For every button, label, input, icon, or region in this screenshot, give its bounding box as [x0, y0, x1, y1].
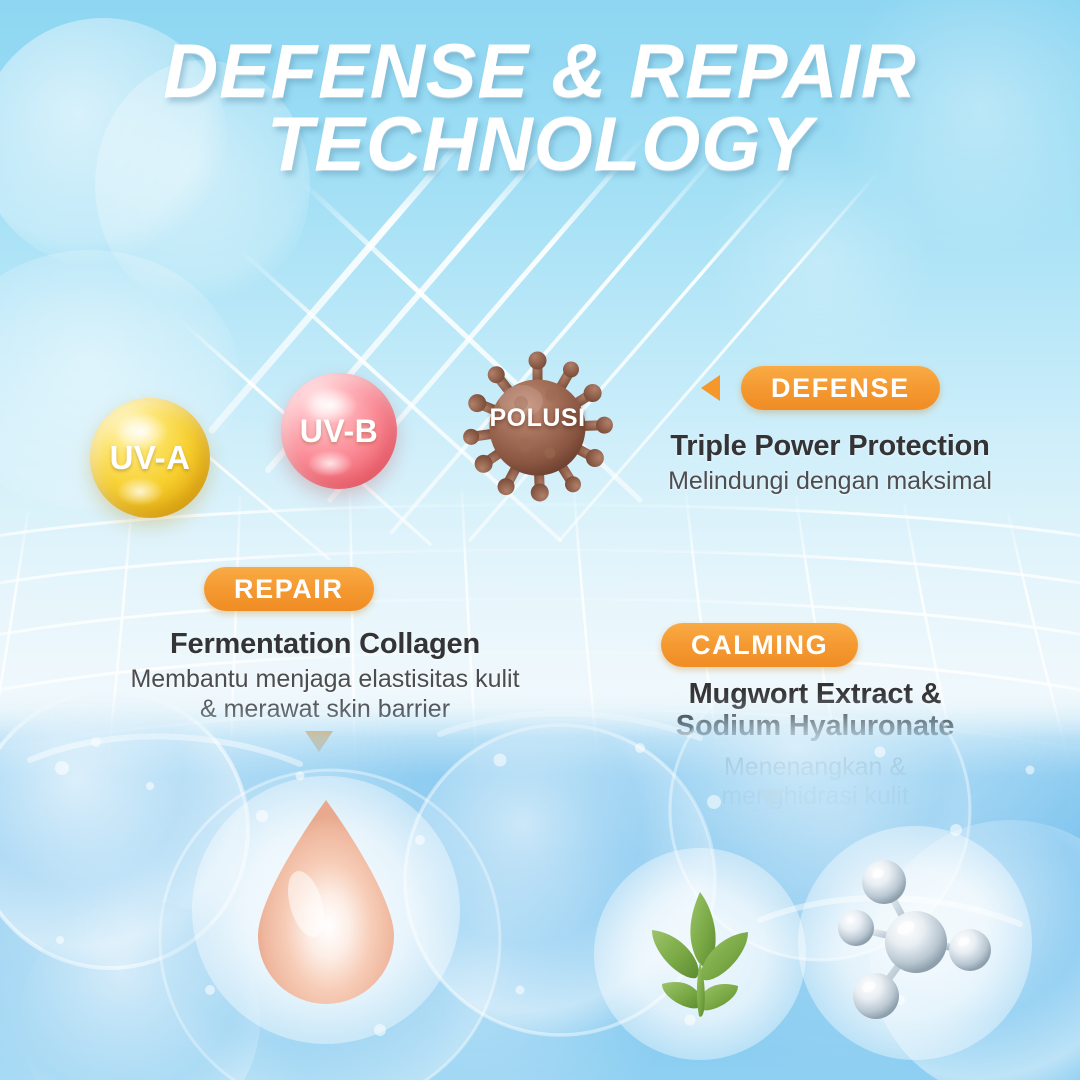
sphere-highlight-icon	[307, 450, 353, 478]
page-title: DEFENSE & REPAIR TECHNOLOGY	[0, 36, 1080, 182]
badge-calming[interactable]: CALMING	[661, 623, 858, 667]
defense-subline: Melindungi dengan maksimal	[620, 467, 1040, 497]
mugwort-leaf-bubble-icon	[594, 848, 806, 1060]
bokeh-circle-icon	[710, 150, 930, 370]
defense-text-block: Triple Power Protection Melindungi denga…	[620, 430, 1040, 497]
bokeh-circle-icon	[830, 0, 1080, 260]
title-line-1: DEFENSE & REPAIR	[163, 29, 917, 114]
sphere-highlight-icon	[116, 477, 164, 506]
molecule-bubble-icon	[798, 826, 1032, 1060]
uvb-sphere-icon: UV-B	[281, 373, 397, 489]
badge-defense[interactable]: DEFENSE	[741, 366, 940, 410]
infographic-canvas: DEFENSE & REPAIR TECHNOLOGY UV-A UV-B	[0, 0, 1080, 1080]
defense-headline: Triple Power Protection	[620, 430, 1040, 462]
uva-label: UV-A	[110, 439, 191, 477]
repair-headline: Fermentation Collagen	[95, 628, 555, 660]
badge-repair[interactable]: REPAIR	[204, 567, 374, 611]
uva-sphere-icon: UV-A	[90, 398, 210, 518]
droplet-bubble-icon	[192, 776, 460, 1044]
title-line-2: TECHNOLOGY	[0, 109, 1080, 182]
pollution-virus-icon	[455, 345, 620, 510]
triangle-left-icon	[701, 375, 720, 401]
bokeh-circle-icon	[95, 60, 310, 310]
uvb-label: UV-B	[300, 413, 378, 450]
bokeh-circle-icon	[0, 18, 228, 268]
